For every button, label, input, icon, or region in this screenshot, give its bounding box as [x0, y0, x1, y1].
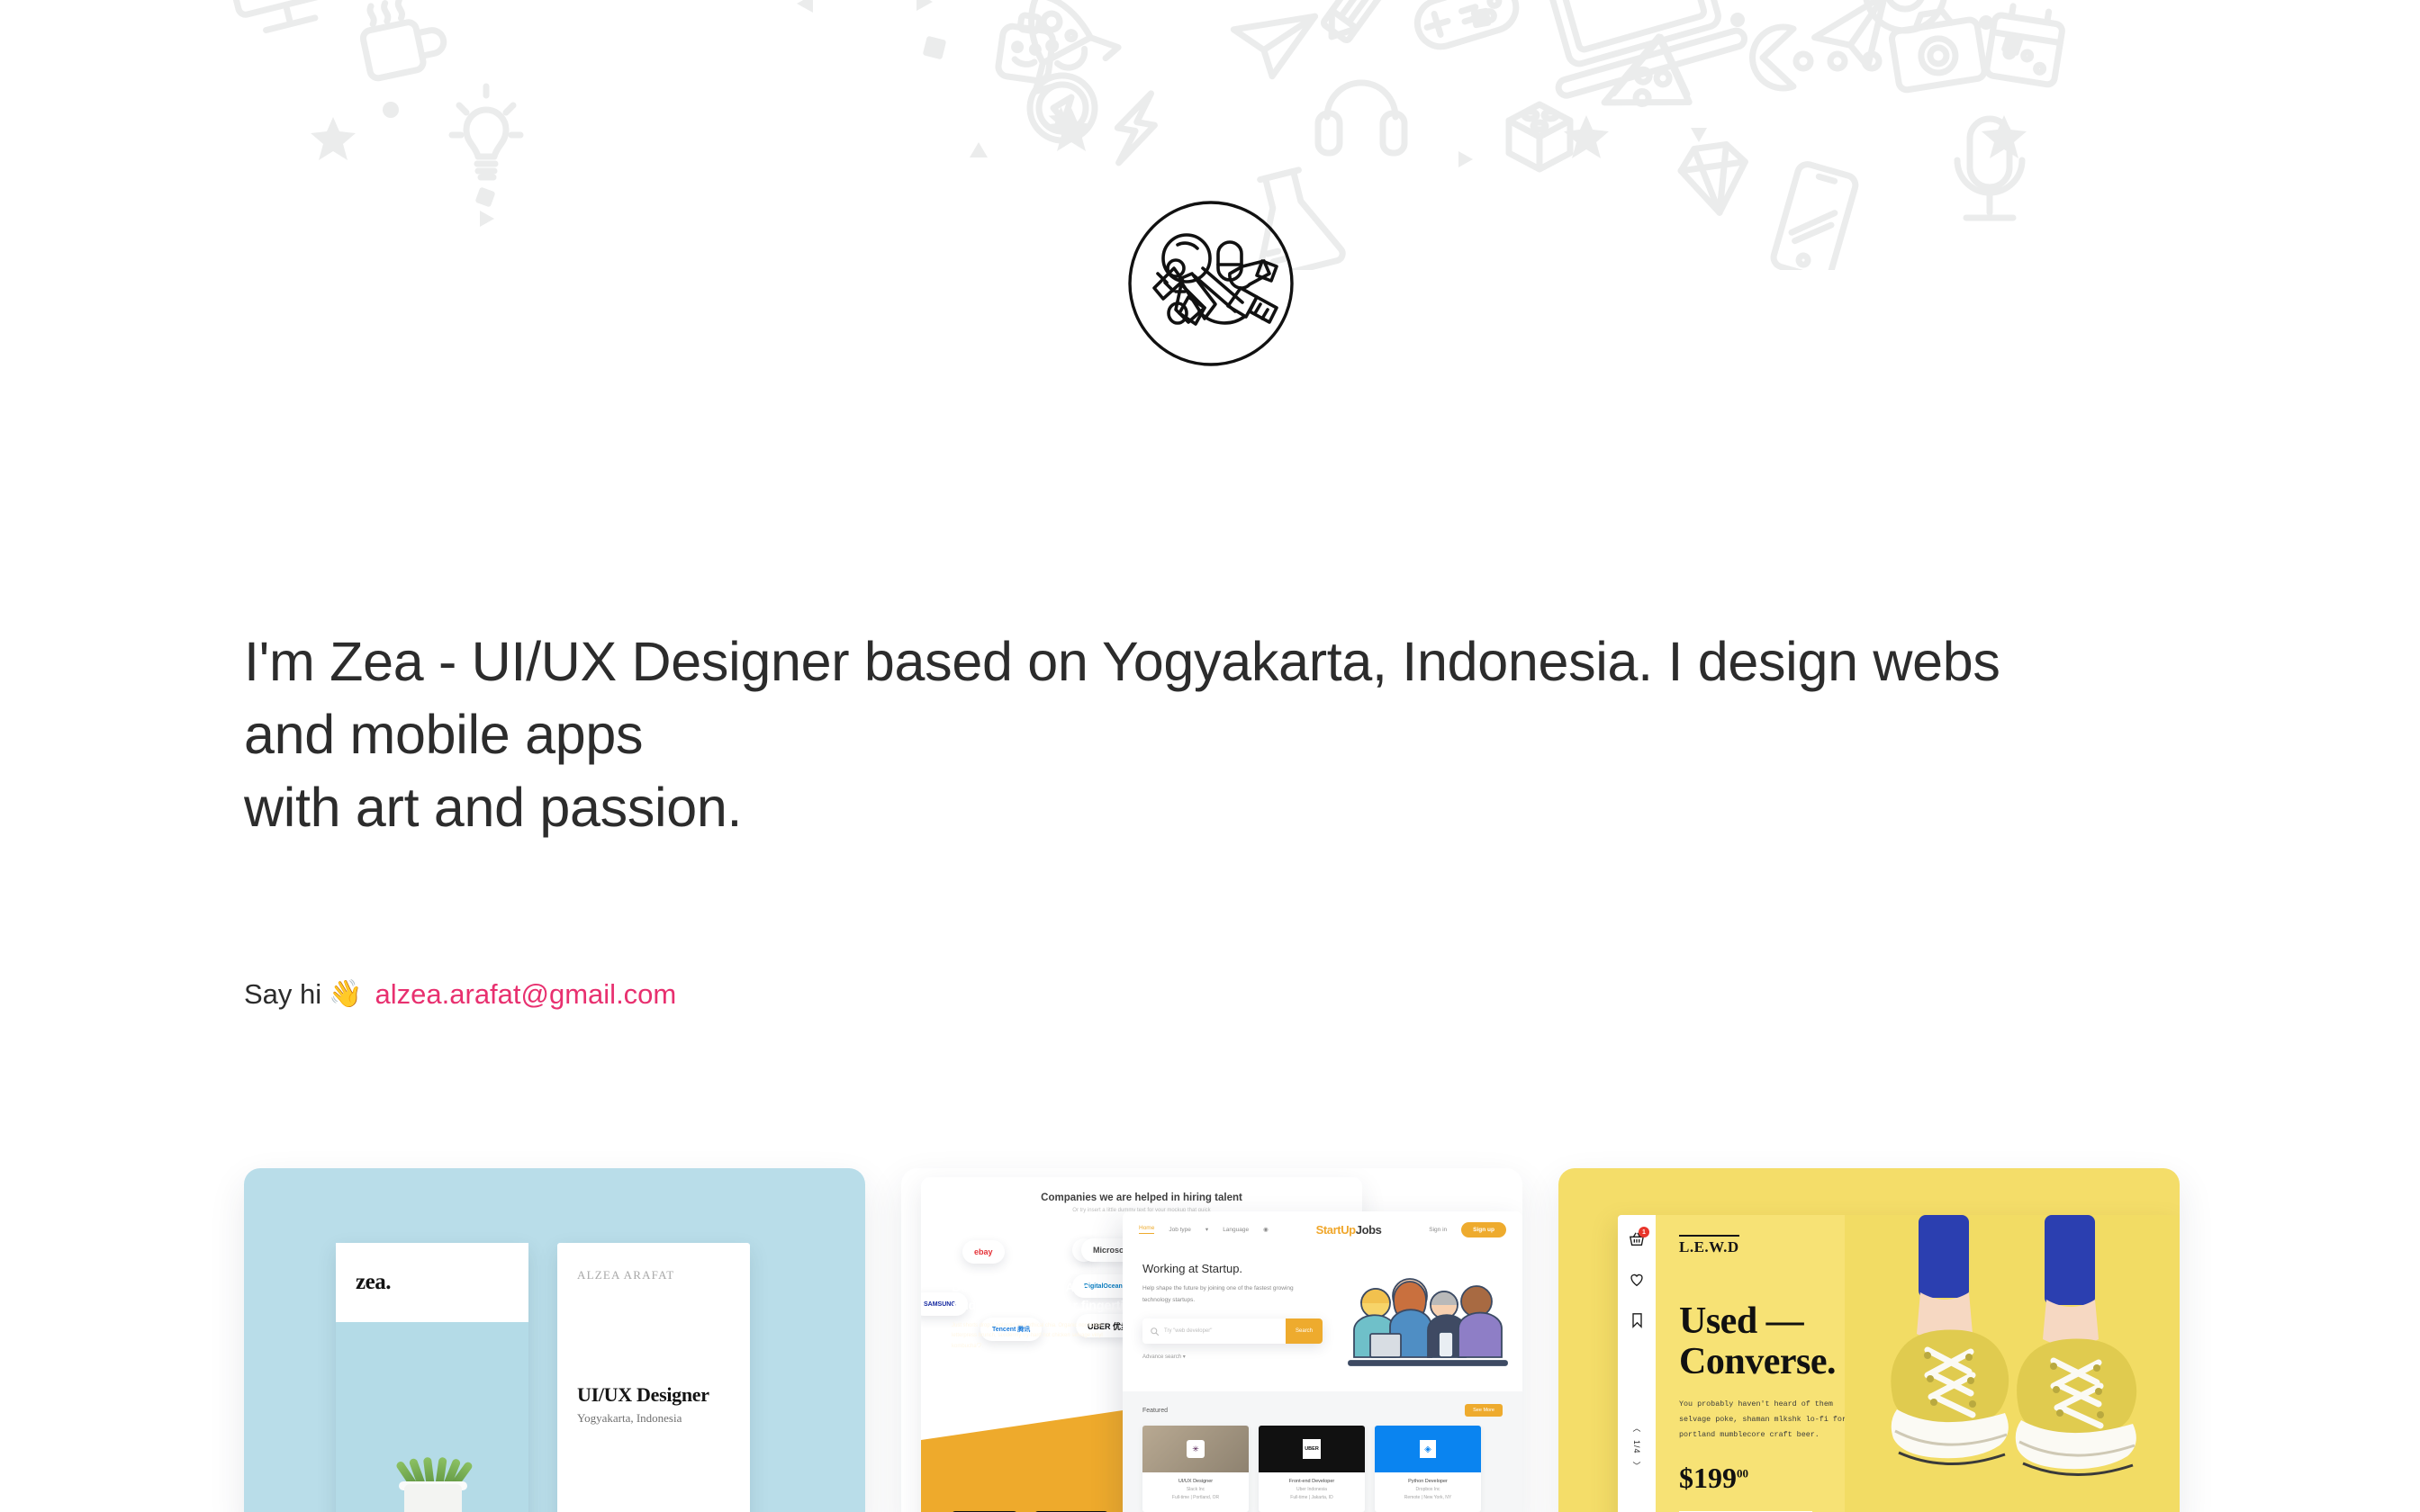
lightbulb-icon — [452, 86, 520, 177]
email-link[interactable]: alzea.arafat@gmail.com — [375, 980, 677, 1008]
logo-pill-ebay: ebay — [962, 1240, 1005, 1264]
lego-head-icon — [998, 13, 1056, 82]
mockup-search-box[interactable]: Try "web developer" Search — [1142, 1318, 1323, 1344]
yellow-converse-illustration — [1845, 1215, 2180, 1512]
converse-photo — [1845, 1215, 2180, 1512]
smartphone-icon — [1771, 162, 1857, 270]
pizza-icon — [1604, 29, 1701, 120]
hero-section: I'm Zea - UI/UX Designer based on Yogyak… — [244, 625, 2045, 844]
say-hi-label: Say hi — [244, 980, 321, 1008]
compass-icon — [1030, 76, 1095, 140]
succulent-plant — [392, 1441, 474, 1512]
calendar-icon — [1986, 4, 2065, 85]
paper-plane-icon — [1225, 0, 1315, 83]
project-card-list: zea. — [244, 1168, 2180, 1512]
contact-line: Say hi 👋 alzea.arafat@gmail.com — [244, 980, 676, 1008]
paper-plane-icon — [1810, 0, 1895, 73]
promo-text: Just shorts drop a polaroid viral ethica… — [952, 1321, 1123, 1352]
featured-section: Featured See More ✳ UI/UX Designer Slack… — [1123, 1391, 1522, 1512]
astronaut-logo[interactable] — [1125, 198, 1296, 369]
bookmark-icon[interactable] — [1630, 1312, 1644, 1333]
startupjobs-brand: StartUpJobs — [1316, 1223, 1382, 1237]
business-card-front: zea. — [336, 1243, 528, 1512]
search-icon — [1151, 1327, 1159, 1336]
pacman-dots-icon — [1796, 54, 1879, 68]
pager-value: 1/4 — [1632, 1440, 1641, 1454]
diamond-icon — [1678, 142, 1752, 217]
project-card-ecommerce[interactable]: 1 ︿ 1/4 ﹀ — [1558, 1168, 2180, 1512]
card-location-label: Yogyakarta, Indonesia — [577, 1411, 730, 1426]
rocket-icon — [996, 0, 1120, 94]
featured-job-title: Python Developer — [1375, 1479, 1481, 1484]
vinyl-record-icon — [1865, 0, 1945, 31]
slack-icon: ✳ — [1187, 1440, 1205, 1458]
mockup-hero-text: Help shape the future by joining one of … — [1142, 1282, 1300, 1306]
featured-job-meta: Remote | New York, NY — [1375, 1495, 1481, 1500]
globe-icon: ◉ — [1263, 1226, 1269, 1233]
featured-job-company: Dropbox Inc — [1375, 1487, 1481, 1492]
team-illustration-icon — [1345, 1267, 1512, 1375]
cart-count-badge: 1 — [1639, 1227, 1649, 1237]
web-mockup-front: Home Job type ▾ Language ◉ StartUpJobs S… — [1123, 1211, 1522, 1512]
pager-up-icon[interactable]: ︿ — [1631, 1424, 1643, 1433]
nav-item-home[interactable]: Home — [1139, 1225, 1154, 1234]
shop-mockup: 1 ︿ 1/4 ﹀ — [1618, 1215, 2180, 1512]
camera-icon — [1889, 6, 1985, 91]
featured-job-meta: Full-time | Jakarta, ID — [1259, 1495, 1365, 1500]
coffee-mug-icon — [357, 0, 448, 79]
uber-icon: UBER — [1303, 1439, 1321, 1459]
zea-logo-text: zea. — [356, 1270, 391, 1295]
page-title: I'm Zea - UI/UX Designer based on Yogyak… — [244, 625, 2045, 844]
featured-label: Featured — [1142, 1408, 1168, 1414]
featured-job-card[interactable]: ◈ Python Developer Dropbox Inc Remote | … — [1375, 1426, 1481, 1512]
nav-item-language[interactable]: Language — [1223, 1227, 1249, 1233]
gamepad-icon — [1403, 0, 1522, 52]
sign-up-button[interactable]: Sign up — [1461, 1222, 1506, 1237]
pager-down-icon[interactable]: ﹀ — [1631, 1462, 1643, 1471]
pencil-icon — [1319, 0, 1402, 46]
promo-heading: Download our free App, And find jobs in … — [952, 1278, 1150, 1315]
mockup-hero: Working at Startup. Help shape the futur… — [1123, 1247, 1522, 1391]
heart-icon[interactable] — [1629, 1272, 1645, 1292]
chevron-down-icon: ▾ — [1205, 1226, 1208, 1233]
dropbox-icon: ◈ — [1420, 1440, 1436, 1458]
monitor-icon — [225, 0, 336, 35]
companies-heading: Companies we are helped in hiring talent — [921, 1192, 1362, 1203]
card-title-label: UI/UX Designer — [577, 1383, 730, 1407]
lightning-bolt-icon — [1112, 89, 1160, 168]
business-card-back: ALZEA ARAFAT UI/UX Designer Yogyakarta, … — [557, 1243, 750, 1512]
card-name-label: ALZEA ARAFAT — [577, 1268, 730, 1282]
project-card-startupjobs[interactable]: Companies we are helped in hiring talent… — [901, 1168, 1522, 1512]
shopping-basket-icon[interactable]: 1 — [1629, 1231, 1645, 1252]
mockup-navbar: Home Job type ▾ Language ◉ StartUpJobs S… — [1123, 1211, 1522, 1247]
shop-pagination[interactable]: ︿ 1/4 ﹀ — [1631, 1424, 1643, 1471]
portfolio-page: I'm Zea - UI/UX Designer based on Yogyak… — [0, 0, 2420, 1512]
project-card-branding[interactable]: zea. — [244, 1168, 865, 1512]
featured-job-card[interactable]: ✳ UI/UX Designer Slack Inc Full-time | P… — [1142, 1426, 1249, 1512]
see-more-button[interactable]: See More — [1465, 1404, 1503, 1417]
laptop-icon — [1526, 0, 1747, 97]
featured-job-title: Front-end Developer — [1259, 1479, 1365, 1484]
featured-job-title: UI/UX Designer — [1142, 1479, 1249, 1484]
featured-job-company: Slack Inc — [1142, 1487, 1249, 1492]
lego-brick-icon — [1509, 104, 1570, 169]
shop-side-rail: 1 ︿ 1/4 ﹀ — [1618, 1215, 1656, 1512]
doodle-accents — [311, 0, 2027, 227]
mockup-search-button[interactable]: Search — [1286, 1318, 1323, 1344]
headphones-icon — [1318, 83, 1404, 153]
astronaut-logo-icon — [1125, 198, 1296, 369]
plant-pot — [404, 1484, 462, 1512]
pacman-icon — [1753, 27, 1793, 88]
featured-job-company: Uber Indonesia — [1259, 1487, 1365, 1492]
sign-in-link[interactable]: Sign in — [1429, 1227, 1447, 1233]
waving-hand-icon: 👋 — [329, 981, 362, 1008]
product-description: You probably haven't heard of them selva… — [1679, 1397, 1865, 1442]
nav-item-job-type[interactable]: Job type — [1169, 1227, 1191, 1233]
featured-job-card[interactable]: UBER Front-end Developer Uber Indonesia … — [1259, 1426, 1365, 1512]
mockup-search-placeholder: Try "web developer" — [1164, 1328, 1212, 1334]
microphone-icon — [1957, 119, 2022, 218]
featured-job-meta: Full-time | Portland, OR — [1142, 1495, 1249, 1500]
lewd-brand-label: L.E.W.D — [1679, 1235, 1739, 1256]
